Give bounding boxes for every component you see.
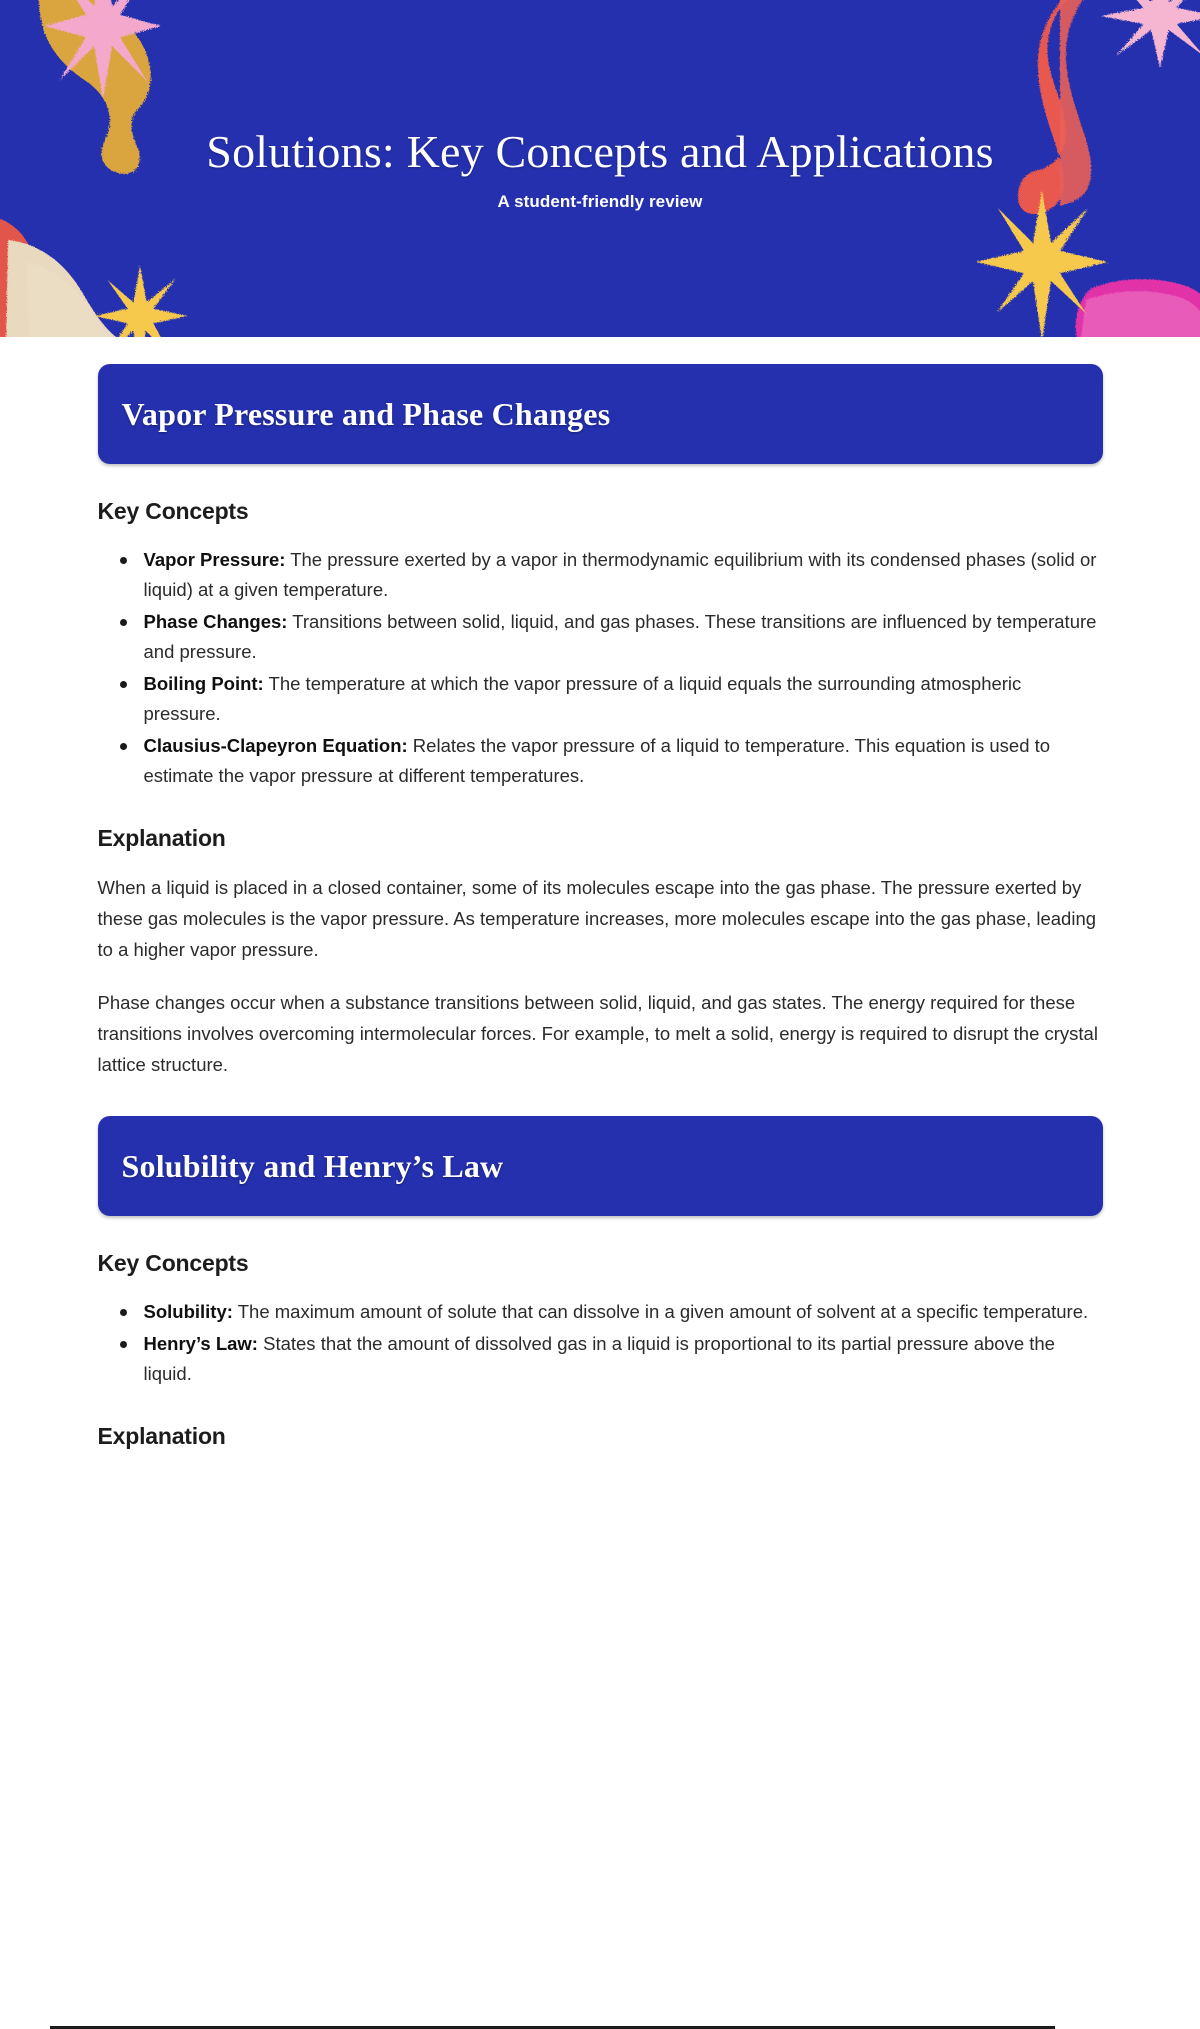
list-item: Solubility: The maximum amount of solute… xyxy=(144,1297,1103,1327)
document-body: Vapor Pressure and Phase Changes Key Con… xyxy=(0,337,1200,1450)
key-concepts-heading: Key Concepts xyxy=(98,498,1103,525)
document-header: Solutions: Key Concepts and Applications… xyxy=(0,0,1200,337)
content-column: Vapor Pressure and Phase Changes Key Con… xyxy=(98,337,1103,1450)
concept-term: Boiling Point: xyxy=(144,673,264,694)
concept-definition: States that the amount of dissolved gas … xyxy=(144,1333,1055,1384)
list-item: Henry’s Law: States that the amount of d… xyxy=(144,1329,1103,1389)
section-banner-title: Vapor Pressure and Phase Changes xyxy=(122,396,611,433)
explanation-heading: Explanation xyxy=(98,825,1103,852)
concept-definition: Transitions between solid, liquid, and g… xyxy=(144,611,1097,662)
list-item: Phase Changes: Transitions between solid… xyxy=(144,607,1103,667)
concept-term: Vapor Pressure: xyxy=(144,549,286,570)
section-banner: Vapor Pressure and Phase Changes xyxy=(98,364,1103,464)
key-concepts-list: Vapor Pressure: The pressure exerted by … xyxy=(98,545,1103,791)
explanation-paragraph: When a liquid is placed in a closed cont… xyxy=(98,872,1103,965)
explanation-paragraph: Phase changes occur when a substance tra… xyxy=(98,987,1103,1080)
concept-term: Henry’s Law: xyxy=(144,1333,258,1354)
section-vapor-pressure-and-phase-changes: Vapor Pressure and Phase Changes Key Con… xyxy=(98,364,1103,1080)
page-title: Solutions: Key Concepts and Applications xyxy=(206,125,993,178)
list-item: Clausius-Clapeyron Equation: Relates the… xyxy=(144,731,1103,791)
key-concepts-list: Solubility: The maximum amount of solute… xyxy=(98,1297,1103,1389)
section-solubility-and-henrys-law: Solubility and Henry’s Law Key Concepts … xyxy=(98,1116,1103,1450)
concept-definition: The temperature at which the vapor press… xyxy=(144,673,1022,724)
section-banner: Solubility and Henry’s Law xyxy=(98,1116,1103,1216)
concept-term: Solubility: xyxy=(144,1301,233,1322)
concept-definition: The maximum amount of solute that can di… xyxy=(233,1301,1088,1322)
list-item: Boiling Point: The temperature at which … xyxy=(144,669,1103,729)
page-subtitle: A student-friendly review xyxy=(498,192,703,212)
section-banner-title: Solubility and Henry’s Law xyxy=(122,1148,504,1185)
concept-term: Phase Changes: xyxy=(144,611,288,632)
concept-term: Clausius-Clapeyron Equation: xyxy=(144,735,408,756)
key-concepts-heading: Key Concepts xyxy=(98,1250,1103,1277)
section-spacer xyxy=(98,1102,1103,1116)
list-item: Vapor Pressure: The pressure exerted by … xyxy=(144,545,1103,605)
concept-definition: The pressure exerted by a vapor in therm… xyxy=(144,549,1097,600)
explanation-heading: Explanation xyxy=(98,1423,1103,1450)
